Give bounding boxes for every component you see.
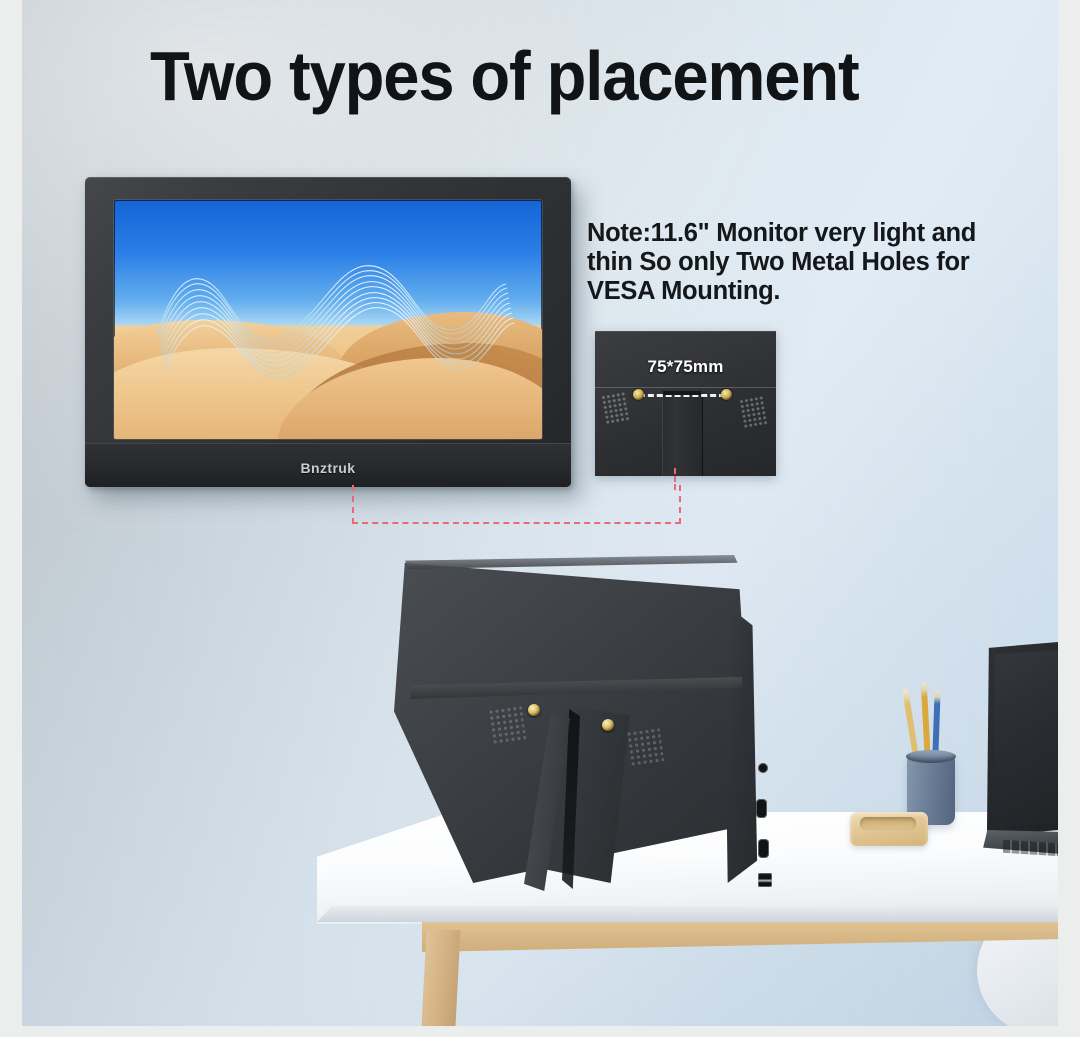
monitor-rear-view bbox=[394, 553, 802, 905]
laptop-screen bbox=[992, 649, 1058, 827]
product-infographic: Two types of placement bbox=[0, 0, 1080, 1037]
wooden-tray bbox=[850, 812, 928, 846]
callout-connector-riser bbox=[674, 468, 676, 490]
desk-leg bbox=[421, 930, 460, 1026]
vesa-hole-icon bbox=[602, 719, 614, 731]
wall-mounted-monitor: Bnztruk bbox=[85, 177, 571, 487]
vesa-inset-diagram: 75*75mm bbox=[595, 331, 776, 476]
usb-c-port[interactable] bbox=[756, 799, 767, 818]
vesa-hole-icon bbox=[528, 704, 540, 716]
laptop-lid bbox=[985, 640, 1058, 836]
port-cluster bbox=[752, 763, 778, 888]
vesa-hole-icon bbox=[633, 389, 644, 400]
headphone-jack-port[interactable] bbox=[758, 763, 768, 773]
usb-c-port[interactable] bbox=[758, 839, 769, 858]
speaker-grille-icon bbox=[488, 705, 527, 745]
desk-apron bbox=[422, 918, 1058, 952]
vesa-kickstand bbox=[662, 393, 703, 476]
wave-ribbon-graphic bbox=[114, 200, 542, 439]
monitor-bezel-chin: Bnztruk bbox=[85, 443, 571, 487]
brand-label: Bnztruk bbox=[85, 460, 571, 476]
photo-scene: Two types of placement bbox=[22, 0, 1058, 1026]
note-line-1: Note:11.6" Monitor very light and bbox=[587, 219, 1057, 248]
pencil-cup-rim bbox=[906, 750, 956, 763]
speaker-grille-icon bbox=[601, 391, 632, 425]
page-title: Two types of placement bbox=[150, 38, 894, 114]
speaker-grille-icon bbox=[626, 727, 665, 767]
vesa-dimension-label: 75*75mm bbox=[595, 357, 776, 377]
callout-connector bbox=[352, 485, 681, 524]
vesa-hole-icon bbox=[721, 389, 732, 400]
note-line-3: VESA Mounting. bbox=[587, 277, 1057, 306]
speaker-grille-icon bbox=[739, 395, 770, 429]
desk-edge bbox=[317, 906, 1058, 922]
monitor-top-bevel bbox=[398, 555, 748, 569]
vesa-panel-seam bbox=[595, 387, 776, 388]
laptop bbox=[985, 640, 1058, 870]
note-text: Note:11.6" Monitor very light and thin S… bbox=[587, 219, 1057, 306]
wooden-tray-recess bbox=[860, 817, 916, 830]
note-line-2: thin So only Two Metal Holes for bbox=[587, 248, 1057, 277]
monitor-screen bbox=[114, 200, 542, 439]
laptop-keyboard bbox=[1003, 840, 1058, 857]
mini-hdmi-port[interactable] bbox=[758, 873, 772, 887]
vesa-stand-tab bbox=[663, 391, 701, 395]
